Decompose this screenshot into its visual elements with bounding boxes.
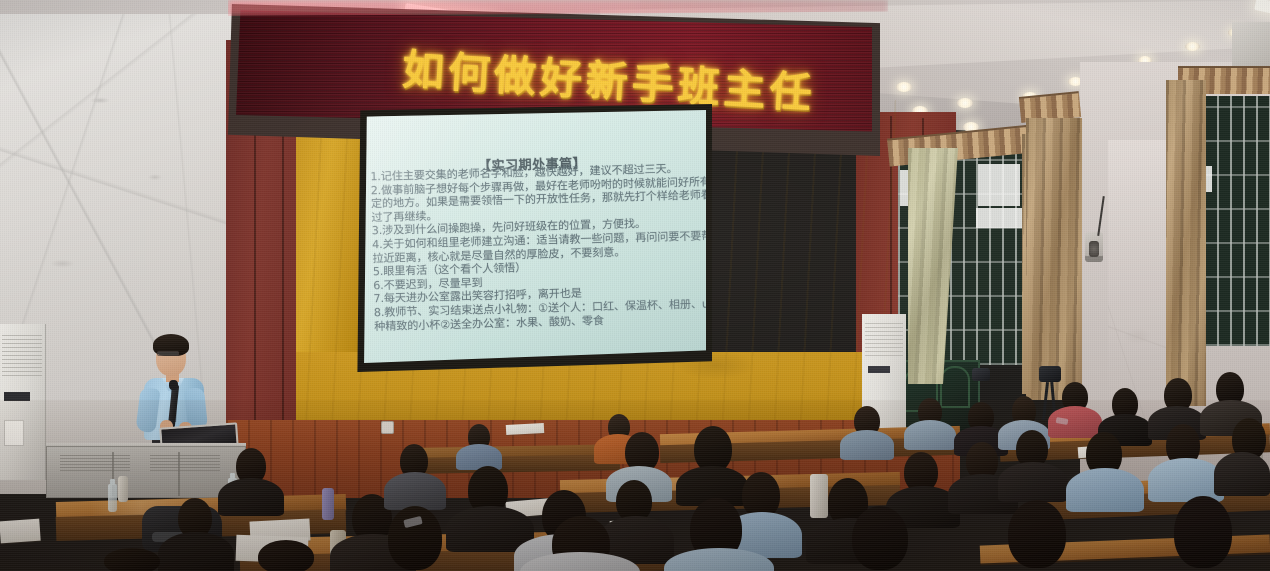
audience-shoulders xyxy=(1148,458,1224,502)
audience-head xyxy=(1174,496,1232,568)
downlight-5 xyxy=(957,98,973,108)
video-camera-2 xyxy=(972,368,990,381)
lectern-seam-2 xyxy=(178,452,180,496)
wall-outlet xyxy=(381,421,394,434)
curtain-panel-far-right xyxy=(1166,80,1206,406)
wall-speaker xyxy=(1085,232,1103,262)
notebook-6 xyxy=(506,423,544,435)
bottle-small-1 xyxy=(118,476,128,502)
audience-head xyxy=(852,506,908,570)
water-bottle-1 xyxy=(108,484,117,512)
glasses-icon xyxy=(157,351,179,356)
lectern-vent-1 xyxy=(60,455,130,471)
ac-unit-left-label xyxy=(4,420,24,446)
wall-ac-unit xyxy=(1232,22,1270,72)
audience-shoulders xyxy=(840,430,894,460)
audience-shoulders xyxy=(1214,452,1270,496)
audience-shoulders xyxy=(158,532,234,571)
ac-unit-left-badge xyxy=(4,392,30,401)
audience-head xyxy=(388,506,442,570)
microphone-head xyxy=(169,380,178,390)
notebook-3 xyxy=(0,519,41,544)
ac-unit-left-grille xyxy=(2,332,42,376)
audience-shoulders xyxy=(904,420,956,450)
audience-shoulders xyxy=(998,462,1068,502)
curtain-panel-mid xyxy=(1026,118,1082,400)
audience-shoulders xyxy=(456,444,502,470)
video-camera xyxy=(1039,366,1061,382)
audience-head xyxy=(104,548,160,571)
lecture-hall-photo: 如何做好新手班主任 【实习期处事篇】 1.记住主要交集的老师名字和脸，越快越好，… xyxy=(0,0,1270,571)
downlight-9 xyxy=(1185,42,1200,51)
tumbler-purple xyxy=(322,488,334,520)
lectern-cabinet xyxy=(46,446,246,498)
lectern-vent-2 xyxy=(150,455,220,471)
audience-shoulders xyxy=(384,472,446,510)
ac-unit-right-grille xyxy=(865,320,903,356)
tumbler-white xyxy=(810,474,828,518)
projection-screen: 【实习期处事篇】 1.记住主要交集的老师名字和脸，越快越好，建议不超过三天。 2… xyxy=(362,110,706,363)
audience-head xyxy=(258,540,314,571)
downlight-3 xyxy=(896,82,912,92)
window-pane-2 xyxy=(978,164,1020,206)
audience-shoulders xyxy=(1066,468,1144,512)
window-pane-3 xyxy=(976,208,1022,228)
audience-head xyxy=(1008,500,1066,568)
green-door-panel-2 xyxy=(940,366,970,408)
screen-glare xyxy=(362,110,706,363)
audience-shoulders xyxy=(218,478,284,516)
ac-unit-right-badge xyxy=(868,366,890,373)
